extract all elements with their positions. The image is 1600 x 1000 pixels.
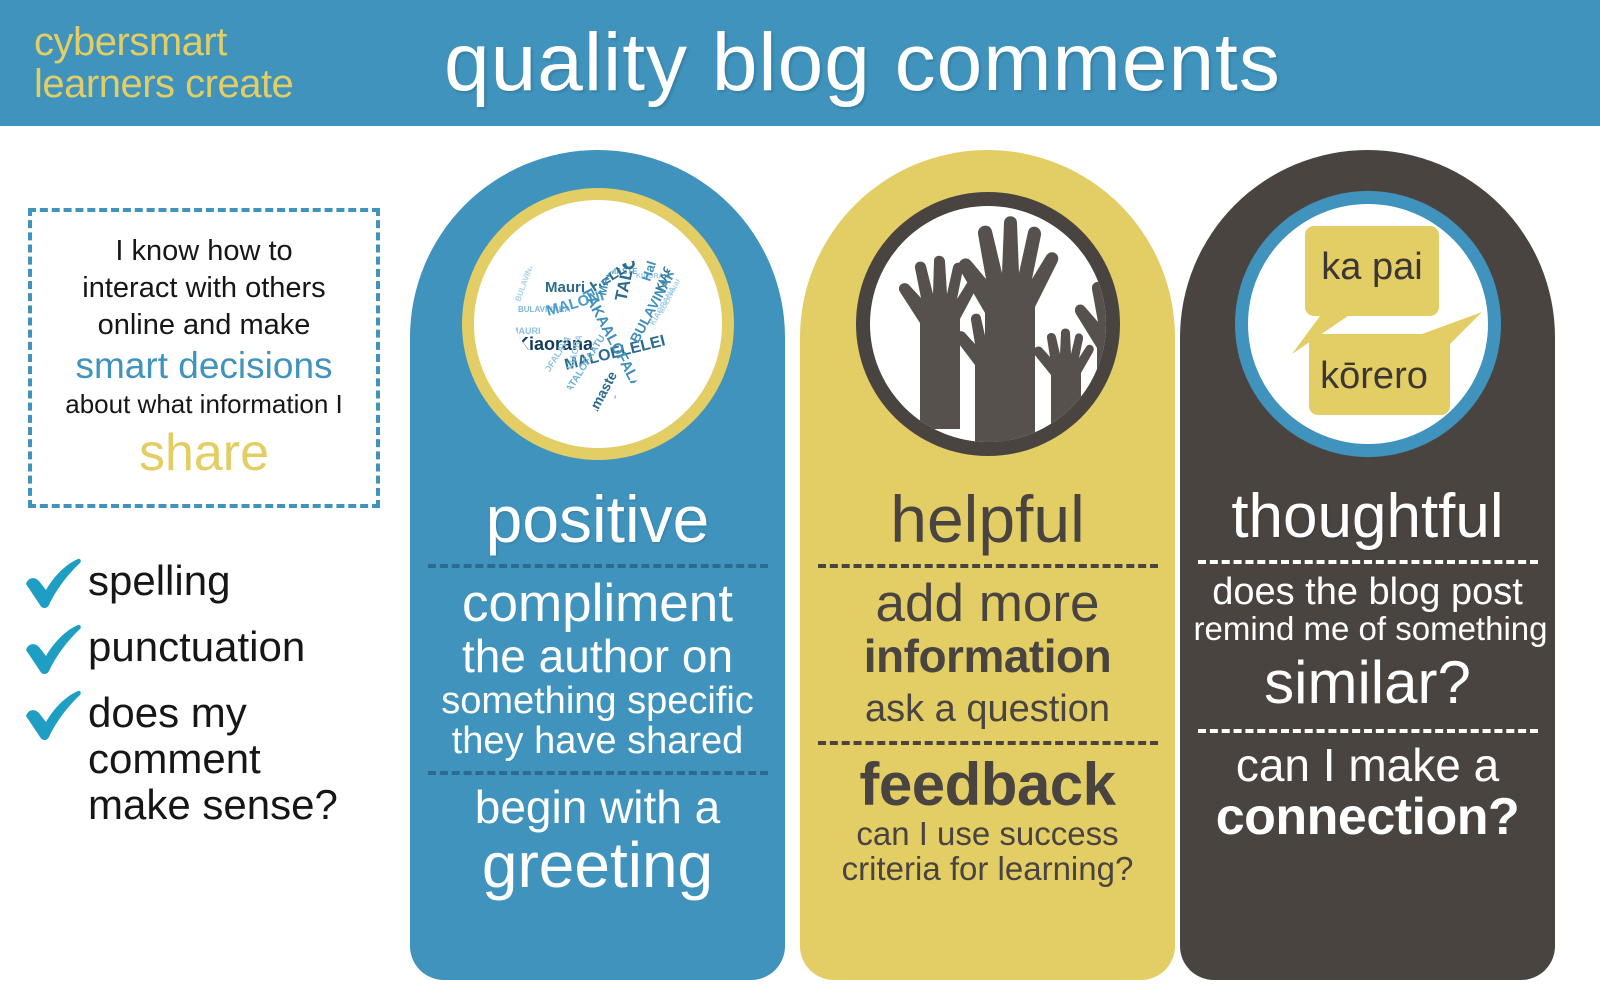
card-line: does the blog post	[1194, 572, 1542, 612]
card-line: information	[814, 632, 1162, 681]
card-section-2: begin with a greeting	[418, 783, 778, 900]
card-section-1: does the blog post remind me of somethin…	[1188, 572, 1548, 715]
divider	[818, 564, 1158, 568]
divider	[1198, 560, 1538, 564]
divider	[428, 564, 768, 568]
card-line: something specific	[424, 681, 772, 721]
heart-word-cloud-icon: BULAVINAKA NAMASTE KIAORA Mauri HELLO MA…	[448, 174, 748, 474]
card-section-2: can I make a connection?	[1188, 741, 1548, 845]
card-line: begin with a	[424, 783, 772, 832]
card-line: criteria for learning?	[814, 852, 1162, 887]
raised-hands-icon	[838, 174, 1138, 474]
card-line: compliment	[424, 576, 772, 632]
bubble-1-text: ka pai	[1321, 246, 1422, 288]
card-line: greeting	[424, 832, 772, 900]
card-line: can I make a	[1194, 741, 1542, 790]
page-title: quality blog comments	[444, 22, 1281, 104]
card-title: positive	[486, 486, 710, 552]
card-line: feedback	[814, 753, 1162, 817]
divider	[428, 771, 768, 775]
card-positive[interactable]: BULAVINAKA NAMASTE KIAORA Mauri HELLO MA…	[410, 150, 785, 980]
bubble-2-text: kōrero	[1320, 355, 1428, 397]
card-title: helpful	[890, 486, 1085, 552]
card-thoughtful[interactable]: ka pai kōrero thoughtful does the blog p…	[1180, 150, 1555, 980]
card-section-1: compliment the author on something speci…	[418, 576, 778, 761]
divider	[1198, 729, 1538, 733]
card-line: remind me of something	[1194, 612, 1542, 647]
card-line: ask a question	[814, 689, 1162, 729]
page-header: cybersmart learners create quality blog …	[0, 0, 1600, 126]
card-title: thoughtful	[1231, 486, 1503, 548]
divider	[818, 741, 1158, 745]
card-helpful[interactable]: helpful add more information ask a quest…	[800, 150, 1175, 980]
card-line: add more	[814, 576, 1162, 632]
speech-bubbles-icon: ka pai kōrero	[1218, 174, 1518, 474]
header-kicker: cybersmart learners create	[34, 21, 434, 105]
card-line: they have shared	[424, 721, 772, 761]
card-line: the author on	[424, 632, 772, 681]
card-line: can I use success	[814, 817, 1162, 852]
cards-row: BULAVINAKA NAMASTE KIAORA Mauri HELLO MA…	[0, 126, 1600, 1000]
card-section-2: feedback can I use success criteria for …	[808, 753, 1168, 887]
card-line: connection?	[1194, 790, 1542, 845]
card-line: similar?	[1194, 651, 1542, 715]
card-section-1: add more information ask a question	[808, 576, 1168, 729]
